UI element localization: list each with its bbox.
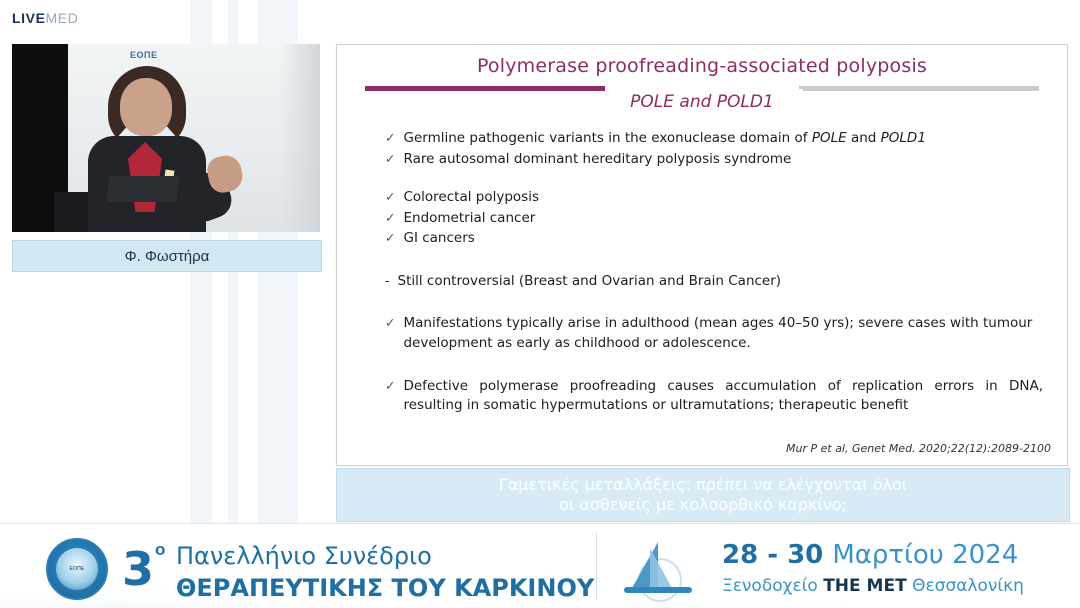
bullet-item: ✓ Manifestations typically arise in adul… xyxy=(385,314,1043,353)
dash-icon: - xyxy=(385,272,390,291)
logo-med-text: MED xyxy=(46,10,79,26)
bullet-text-3: Endometrial cancer xyxy=(403,209,1043,229)
caption-banner: Γαμετικές μεταλλάξεις: πρέπει να ελέγχον… xyxy=(336,468,1070,522)
emblem-text: ΕΟΠΕ xyxy=(48,540,106,598)
check-icon: ✓ xyxy=(385,377,395,396)
logo-sail-right xyxy=(650,548,672,588)
bullet-item: ✓ Defective polymerase proofreading caus… xyxy=(385,377,1043,416)
speaker-head xyxy=(120,78,172,136)
speaker-video[interactable]: ΕΟΠΕ xyxy=(12,44,320,232)
edition-degree-symbol: ο xyxy=(155,540,165,560)
bullet-item: ✓ Endometrial cancer xyxy=(385,209,1043,229)
title-rule-right xyxy=(799,86,1039,91)
bullet-text-2: Colorectal polyposis xyxy=(403,188,1043,208)
logo-base xyxy=(624,587,692,593)
society-emblem-icon: ΕΟΠΕ xyxy=(46,538,108,600)
check-icon: ✓ xyxy=(385,209,395,228)
conference-logo-icon xyxy=(610,538,706,596)
slide-subtitle: POLE and POLD1 xyxy=(337,92,1067,112)
screen: LIVEMED ΕΟΠΕ Φ. Φωστήρα Polymerase proof… xyxy=(0,0,1080,608)
dates-value: 28 - 30 xyxy=(722,540,823,570)
spacer xyxy=(385,250,1043,272)
caption-line-2: οι ασθενείς με κολοορθικό καρκίνο; xyxy=(559,495,847,515)
venue-prefix: Ξενοδοχείο xyxy=(722,576,818,596)
check-icon: ✓ xyxy=(385,314,395,333)
bullet-text-1: Rare autosomal dominant hereditary polyp… xyxy=(403,150,1043,170)
bullet-text-4: GI cancers xyxy=(403,229,1043,249)
spacer xyxy=(385,292,1043,314)
bullet-item: ✓ Rare autosomal dominant hereditary pol… xyxy=(385,150,1043,170)
livemed-logo: LIVEMED xyxy=(12,10,78,26)
slide-title: Polymerase proofreading-associated polyp… xyxy=(337,55,1067,77)
bullet-text-5: Still controversial (Breast and Ovarian … xyxy=(398,272,1043,292)
spacer xyxy=(385,355,1043,377)
video-light-edge xyxy=(280,44,320,232)
bullet-item: ✓ Germline pathogenic variants in the ex… xyxy=(385,129,1043,149)
check-icon: ✓ xyxy=(385,229,395,248)
conference-venue: Ξενοδοχείο THE MET Θεσσαλονίκη xyxy=(722,576,1024,596)
conference-title-line1: Πανελλήνιο Συνέδριο xyxy=(176,542,432,570)
speaker-name-label: Φ. Φωστήρα xyxy=(12,240,322,272)
month-year: Μαρτίου 2024 xyxy=(832,540,1018,570)
caption-line-1: Γαμετικές μεταλλάξεις: πρέπει να ελέγχον… xyxy=(499,475,907,495)
footer-divider xyxy=(596,532,597,600)
video-overlay-logo: ΕΟΠΕ xyxy=(130,50,158,60)
bullet-text-7: Defective polymerase proofreading causes… xyxy=(403,377,1043,416)
laptop xyxy=(107,176,180,202)
presentation-slide[interactable]: Polymerase proofreading-associated polyp… xyxy=(336,44,1068,466)
spacer xyxy=(385,170,1043,188)
bullet-text-6: Manifestations typically arise in adulth… xyxy=(403,314,1043,353)
conference-dates: 28 - 30 Μαρτίου 2024 xyxy=(722,540,1018,570)
bullet-item: ✓ GI cancers xyxy=(385,229,1043,249)
venue-name: THE MET xyxy=(823,576,906,596)
logo-live-text: LIVE xyxy=(12,10,46,26)
title-rule-left xyxy=(365,86,605,91)
bullet-item: ✓ Colorectal polyposis xyxy=(385,188,1043,208)
bullet-text-0: Germline pathogenic variants in the exon… xyxy=(403,129,1043,149)
check-icon: ✓ xyxy=(385,129,395,148)
check-icon: ✓ xyxy=(385,150,395,169)
conference-title-line2: ΘΕΡΑΠΕΥΤΙΚΗΣ ΤΟΥ ΚΑΡΚΙΝΟΥ xyxy=(176,574,594,602)
slide-body: ✓ Germline pathogenic variants in the ex… xyxy=(385,129,1043,417)
venue-city: Θεσσαλονίκη xyxy=(912,576,1024,596)
check-icon: ✓ xyxy=(385,188,395,207)
bullet-item: - Still controversial (Breast and Ovaria… xyxy=(385,272,1043,292)
slide-reference: Mur P et al, Genet Med. 2020;22(12):2089… xyxy=(786,442,1051,455)
edition-number: 3 xyxy=(122,542,154,596)
conference-footer: ΕΟΠΕ 3 ο Πανελλήνιο Συνέδριο ΘΕΡΑΠΕΥΤΙΚΗ… xyxy=(0,523,1080,608)
